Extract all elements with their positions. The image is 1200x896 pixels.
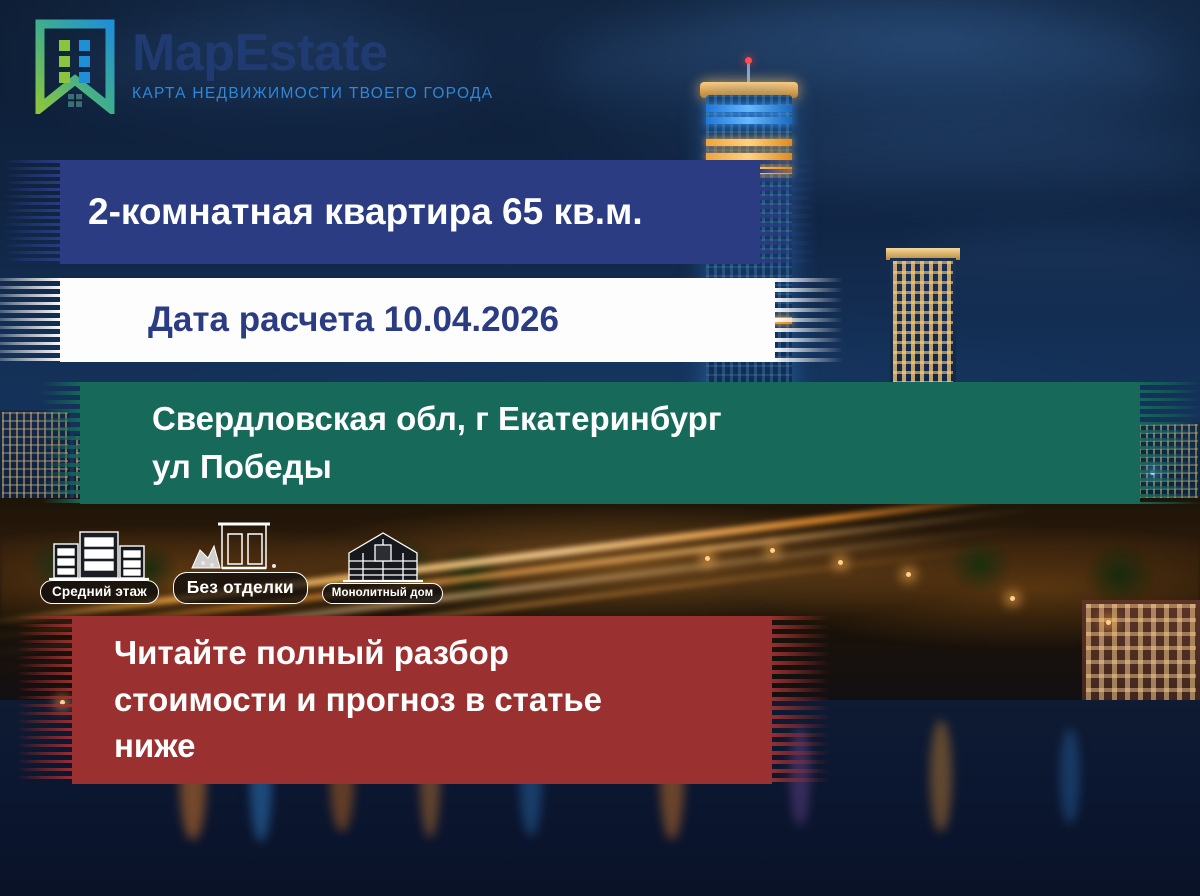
feature-badge-list: Средний этаж	[40, 516, 443, 604]
tower-antenna	[747, 62, 750, 84]
cloud-band	[560, 10, 1180, 130]
monolithic-frame-icon	[331, 527, 435, 589]
bare-shell-room-icon	[188, 516, 292, 578]
apartment-building-icon	[47, 524, 151, 586]
calculation-date-banner: Дата расчета 10.04.2026	[60, 278, 775, 362]
cta-line-1: Читайте полный разбор	[114, 633, 772, 674]
cloud-band	[760, 120, 1200, 210]
location-street: ул Победы	[152, 447, 1140, 487]
feature-badge-label: Без отделки	[173, 572, 308, 604]
promo-card: MapEstate КАРТА НЕДВИЖИМОСТИ ТВОЕГО ГОРО…	[0, 0, 1200, 896]
cta-line-2: стоимости и прогноз в статье	[114, 680, 772, 721]
property-banner: 2-комнатная квартира 65 кв.м.	[60, 160, 760, 264]
location-banner: Свердловская обл, г Екатеринбург ул Побе…	[80, 382, 1140, 504]
feature-badge[interactable]: Монолитный дом	[322, 527, 443, 604]
brand-name: MapEstate	[132, 29, 493, 78]
cta-banner: Читайте полный разбор стоимости и прогно…	[72, 616, 772, 784]
property-title: 2-комнатная квартира 65 кв.м.	[88, 191, 760, 233]
brand-logo[interactable]: MapEstate КАРТА НЕДВИЖИМОСТИ ТВОЕГО ГОРО…	[32, 18, 493, 114]
bookmark-building-icon	[32, 18, 118, 114]
feature-badge[interactable]: Средний этаж	[40, 524, 159, 604]
feature-badge-label: Средний этаж	[40, 580, 159, 604]
feature-badge-label: Монолитный дом	[322, 583, 443, 604]
feature-badge[interactable]: Без отделки	[173, 516, 308, 604]
brand-tagline: КАРТА НЕДВИЖИМОСТИ ТВОЕГО ГОРОДА	[132, 85, 493, 103]
cta-line-3: ниже	[114, 726, 772, 767]
location-region-city: Свердловская обл, г Екатеринбург	[152, 399, 1140, 439]
calculation-date-text: Дата расчета 10.04.2026	[148, 300, 775, 340]
